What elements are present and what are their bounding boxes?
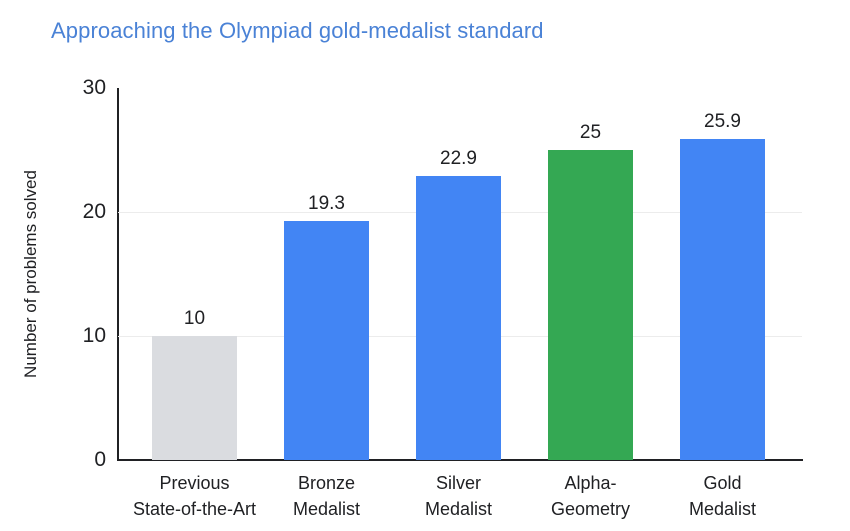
- bar-value-label: 25: [580, 122, 601, 144]
- bar[interactable]: [284, 221, 369, 460]
- x-category-label: SilverMedalist: [425, 470, 492, 522]
- x-category-label-line: Bronze: [293, 470, 360, 496]
- bar-group[interactable]: 22.9SilverMedalist: [416, 88, 501, 460]
- chart-title: Approaching the Olympiad gold-medalist s…: [51, 18, 544, 44]
- y-axis-title: Number of problems solved: [18, 88, 44, 460]
- x-category-label-line: Alpha-: [551, 470, 630, 496]
- x-category-label-line: State-of-the-Art: [133, 496, 256, 522]
- plot-area: 010203010PreviousState-of-the-Art19.3Bro…: [118, 88, 802, 460]
- bar[interactable]: [548, 150, 633, 460]
- y-tick-label: 30: [83, 76, 106, 100]
- x-category-label-line: Medalist: [293, 496, 360, 522]
- y-tick-label: 0: [94, 448, 106, 472]
- y-tick-label: 20: [83, 200, 106, 224]
- x-category-label-line: Gold: [689, 470, 756, 496]
- bar-value-label: 10: [184, 308, 205, 330]
- y-tick-label: 10: [83, 324, 106, 348]
- x-category-label: BronzeMedalist: [293, 470, 360, 522]
- x-category-label: Alpha-Geometry: [551, 470, 630, 522]
- x-category-label-line: Previous: [133, 470, 256, 496]
- x-category-label: PreviousState-of-the-Art: [133, 470, 256, 522]
- bar-group[interactable]: 19.3BronzeMedalist: [284, 88, 369, 460]
- x-category-label-line: Geometry: [551, 496, 630, 522]
- x-category-label-line: Medalist: [425, 496, 492, 522]
- bar-group[interactable]: 25.9GoldMedalist: [680, 88, 765, 460]
- bar-value-label: 22.9: [440, 148, 477, 170]
- bar[interactable]: [152, 336, 237, 460]
- bar-value-label: 19.3: [308, 193, 345, 215]
- bar-group[interactable]: 25Alpha-Geometry: [548, 88, 633, 460]
- bar[interactable]: [416, 176, 501, 460]
- bar-group[interactable]: 10PreviousState-of-the-Art: [152, 88, 237, 460]
- bar[interactable]: [680, 139, 765, 460]
- x-category-label-line: Medalist: [689, 496, 756, 522]
- x-category-label: GoldMedalist: [689, 470, 756, 522]
- x-category-label-line: Silver: [425, 470, 492, 496]
- bar-value-label: 25.9: [704, 111, 741, 133]
